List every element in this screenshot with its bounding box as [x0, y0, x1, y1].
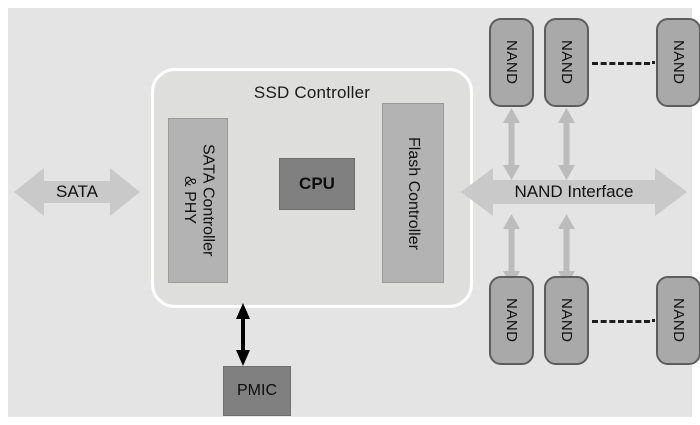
pmic-block: PMIC: [223, 366, 291, 416]
nand-chip-label: NAND: [670, 40, 687, 85]
nand-chip: NAND: [656, 276, 700, 365]
sata-controller-phy-label: SATA Controller & PHY: [180, 144, 217, 256]
nand-chip-label: NAND: [503, 298, 520, 343]
nand-chip-label: NAND: [558, 40, 575, 85]
sata-controller-phy-block: SATA Controller & PHY: [168, 118, 228, 283]
nand-interface-arrow: [461, 166, 687, 218]
nand-ellipsis-line-bottom: [592, 320, 650, 323]
flash-controller-label: Flash Controller: [404, 137, 422, 250]
diagram-canvas: SATA SSD Controller SATA Controller & PH…: [8, 8, 692, 417]
nand-chip: NAND: [656, 18, 700, 107]
nand-ellipsis-dot-top: [652, 61, 655, 64]
nand-ellipsis-dot-bottom: [652, 319, 655, 322]
cpu-label: CPU: [299, 174, 335, 194]
nand-ellipsis-line-top: [592, 62, 650, 65]
pmic-link-arrow: [235, 303, 251, 366]
nand-chip-label: NAND: [670, 298, 687, 343]
nand-chip: NAND: [489, 18, 534, 107]
ssd-controller-title: SSD Controller: [154, 83, 470, 103]
nand-chip: NAND: [544, 276, 589, 365]
nand-chip: NAND: [544, 18, 589, 107]
flash-controller-block: Flash Controller: [382, 103, 444, 283]
pmic-label: PMIC: [237, 382, 277, 400]
nand-chip-label: NAND: [558, 298, 575, 343]
nand-chip-label: NAND: [503, 40, 520, 85]
ssd-block-diagram: SATA SSD Controller SATA Controller & PH…: [0, 0, 700, 425]
sata-interface-arrow: [14, 166, 140, 218]
nand-chip: NAND: [489, 276, 534, 365]
cpu-block: CPU: [279, 158, 355, 210]
